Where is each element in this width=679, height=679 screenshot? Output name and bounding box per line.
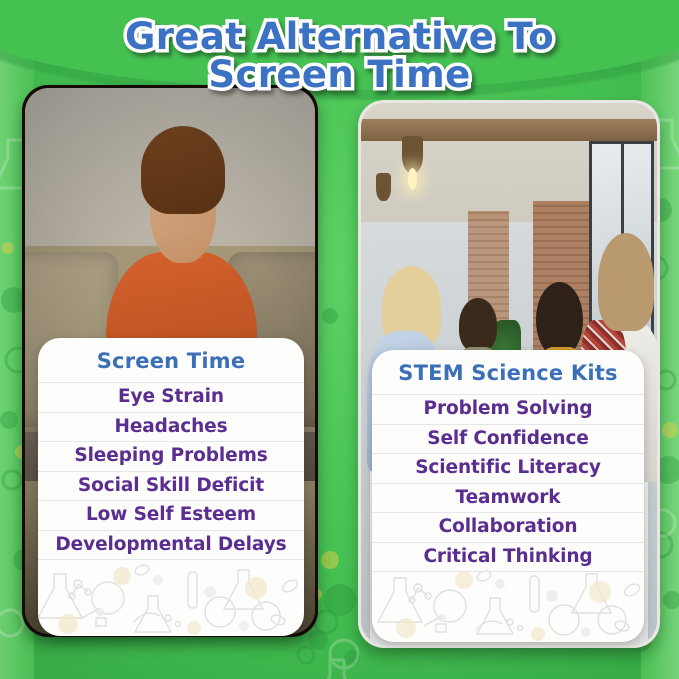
kid-4-hair xyxy=(598,233,654,331)
ceiling-lamp xyxy=(376,173,391,200)
list-item: Social Skill Deficit xyxy=(38,471,304,501)
title-line-2: Screen Time xyxy=(0,56,679,94)
page-title: Great Alternative To Screen Time xyxy=(0,18,679,94)
card-screen-time: Screen Time Eye Strain Headaches Sleepin… xyxy=(38,338,304,636)
card-title-screen-time: Screen Time xyxy=(38,338,304,382)
list-item: Critical Thinking xyxy=(372,542,644,573)
list-item: Headaches xyxy=(38,412,304,442)
list-stem-science-kits: Problem Solving Self Confidence Scientif… xyxy=(372,394,644,598)
card-footer-doodles-right xyxy=(372,598,644,642)
list-item: Collaboration xyxy=(372,512,644,542)
kid-2-hair xyxy=(459,298,497,352)
list-item: Scientific Literacy xyxy=(372,453,644,483)
list-item: Eye Strain xyxy=(38,382,304,412)
card-title-stem-science-kits: STEM Science Kits xyxy=(372,350,644,394)
list-item: Low Self Esteem xyxy=(38,500,304,530)
list-item: Problem Solving xyxy=(372,394,644,424)
list-item: Sleeping Problems xyxy=(38,441,304,471)
card-footer-doodles-left xyxy=(38,592,304,636)
card-stem-science-kits: STEM Science Kits Problem Solving Self C… xyxy=(372,350,644,642)
list-screen-time: Eye Strain Headaches Sleeping Problems S… xyxy=(38,382,304,592)
title-line-1: Great Alternative To xyxy=(0,18,679,56)
list-item: Teamwork xyxy=(372,483,644,513)
list-item: Developmental Delays xyxy=(38,530,304,561)
list-item: Self Confidence xyxy=(372,424,644,454)
